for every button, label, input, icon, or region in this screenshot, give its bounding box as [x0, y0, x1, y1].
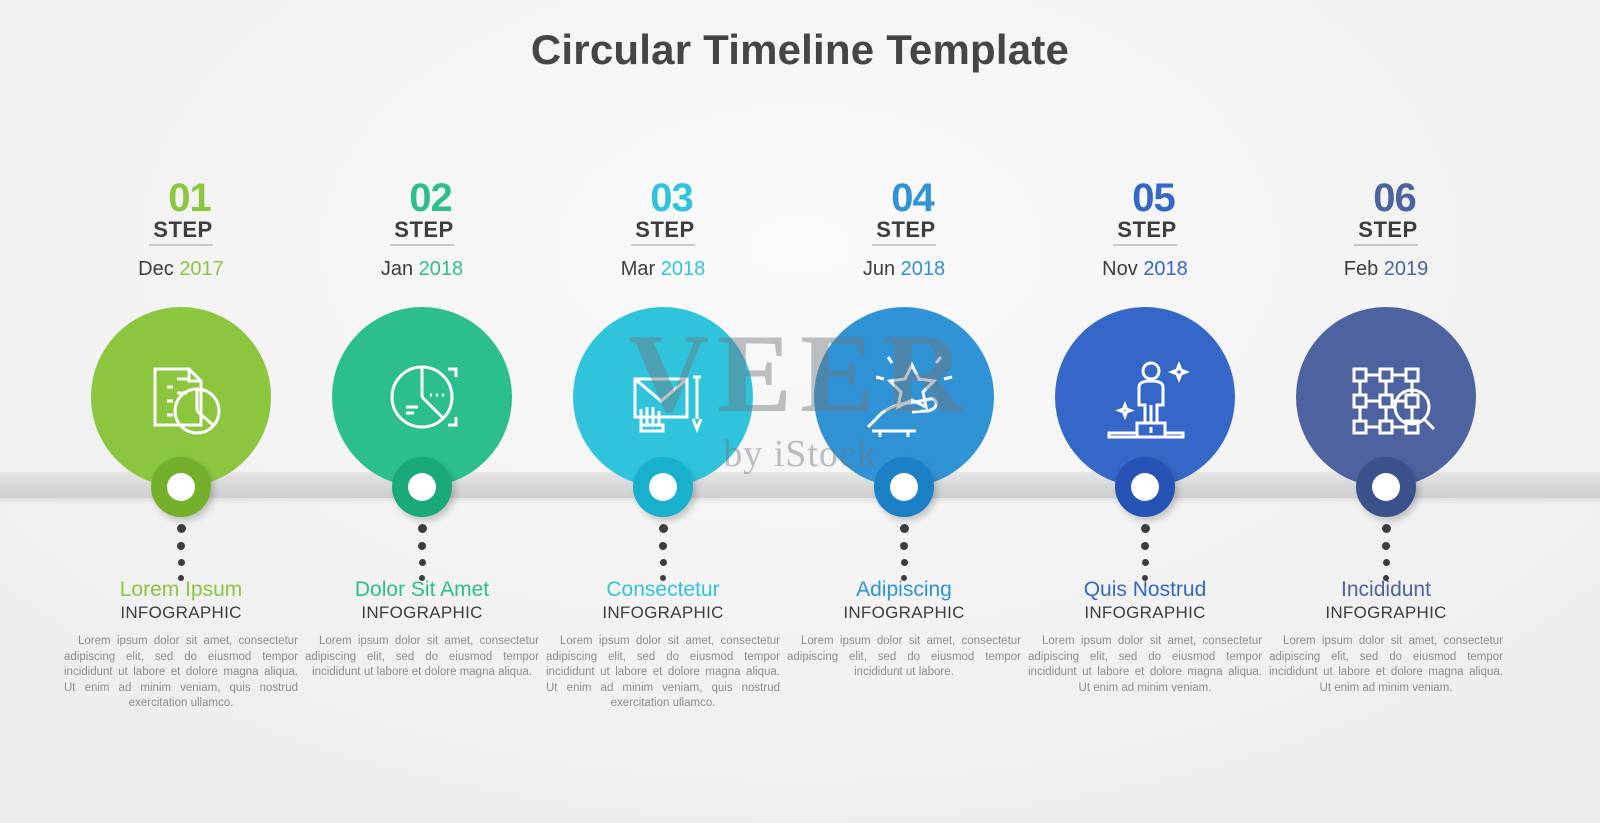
step-dots-3	[543, 524, 783, 581]
step-header-2: 02 STEP Jan 2018	[302, 178, 542, 280]
step-word-6: STEP	[1354, 218, 1417, 242]
step-column-6[interactable]: 06 STEP Feb 2019	[1266, 0, 1506, 823]
step-word-1: STEP	[149, 218, 212, 242]
step-dots-1	[61, 524, 301, 581]
step-date-2: Jan 2018	[302, 258, 542, 280]
step-header-6: 06 STEP Feb 2019	[1266, 178, 1506, 280]
hand-star-icon	[854, 349, 954, 445]
step-date-1: Dec 2017	[61, 258, 301, 280]
step-word-4: STEP	[872, 218, 935, 242]
step-ring-3[interactable]	[633, 457, 693, 517]
step-ring-inner-2	[408, 473, 436, 501]
step-rule-3	[631, 244, 694, 246]
step-rule-4	[872, 244, 935, 246]
step-column-4[interactable]: 04 STEP Jun 2018	[784, 0, 1024, 823]
step-year-6: 2019	[1384, 258, 1429, 280]
step-number-3: 03	[631, 178, 694, 218]
step-body-5: Quis Nostrud INFOGRAPHIC Lorem ipsum dol…	[1025, 578, 1265, 696]
step-text-2: Lorem ipsum dolor sit amet, consectetur …	[302, 634, 542, 681]
step-dots-2	[302, 524, 542, 581]
step-ring-2[interactable]	[392, 457, 452, 517]
step-subtitle-3: INFOGRAPHIC	[543, 603, 783, 623]
step-dots-6	[1266, 524, 1506, 581]
step-ring-inner-6	[1372, 473, 1400, 501]
document-pie-chart-icon	[133, 349, 229, 445]
envelope-pencil-icon	[613, 349, 713, 445]
step-text-5: Lorem ipsum dolor sit amet, consectetur …	[1025, 634, 1265, 696]
step-month-1: Dec	[138, 258, 174, 280]
step-ring-inner-3	[649, 473, 677, 501]
step-body-2: Dolor Sit Amet INFOGRAPHIC Lorem ipsum d…	[302, 578, 542, 681]
step-title-4: Adipiscing	[784, 578, 1024, 602]
step-header-5: 05 STEP Nov 2018	[1025, 178, 1265, 280]
step-ring-1[interactable]	[151, 457, 211, 517]
step-title-1: Lorem Ipsum	[61, 578, 301, 602]
step-rule-6	[1354, 244, 1417, 246]
step-text-6: Lorem ipsum dolor sit amet, consectetur …	[1266, 634, 1506, 696]
step-month-5: Nov	[1102, 258, 1138, 280]
step-text-4: Lorem ipsum dolor sit amet, consectetur …	[784, 634, 1024, 681]
step-month-4: Jun	[863, 258, 895, 280]
step-number-6: 06	[1354, 178, 1417, 218]
step-column-3[interactable]: 03 STEP Mar 2018	[543, 0, 783, 823]
step-word-3: STEP	[631, 218, 694, 242]
step-text-3: Lorem ipsum dolor sit amet, consectetur …	[543, 634, 783, 712]
step-year-2: 2018	[419, 258, 464, 280]
step-number-5: 05	[1113, 178, 1176, 218]
step-word-2: STEP	[390, 218, 453, 242]
step-header-3: 03 STEP Mar 2018	[543, 178, 783, 280]
step-number-1: 01	[149, 178, 212, 218]
step-dots-4	[784, 524, 1024, 581]
step-number-2: 02	[390, 178, 453, 218]
step-body-6: Incididunt INFOGRAPHIC Lorem ipsum dolor…	[1266, 578, 1506, 696]
step-column-2[interactable]: 02 STEP Jan 2018	[302, 0, 542, 823]
step-body-4: Adipiscing INFOGRAPHIC Lorem ipsum dolor…	[784, 578, 1024, 681]
step-subtitle-2: INFOGRAPHIC	[302, 603, 542, 623]
step-rule-2	[390, 244, 453, 246]
step-ring-4[interactable]	[874, 457, 934, 517]
pie-chart-icon	[374, 349, 470, 445]
step-title-3: Consectetur	[543, 578, 783, 602]
step-subtitle-4: INFOGRAPHIC	[784, 603, 1024, 623]
step-title-2: Dolor Sit Amet	[302, 578, 542, 602]
step-subtitle-6: INFOGRAPHIC	[1266, 603, 1506, 623]
step-year-1: 2017	[179, 258, 224, 280]
step-rule-1	[149, 244, 212, 246]
step-subtitle-5: INFOGRAPHIC	[1025, 603, 1265, 623]
step-column-5[interactable]: 05 STEP Nov 2018	[1025, 0, 1265, 823]
step-title-5: Quis Nostrud	[1025, 578, 1265, 602]
step-text-1: Lorem ipsum dolor sit amet, consectetur …	[61, 634, 301, 712]
person-podium-icon	[1095, 349, 1195, 445]
step-number-4: 04	[872, 178, 935, 218]
step-date-5: Nov 2018	[1025, 258, 1265, 280]
step-month-3: Mar	[621, 258, 655, 280]
step-subtitle-1: INFOGRAPHIC	[61, 603, 301, 623]
step-ring-inner-4	[890, 473, 918, 501]
step-ring-inner-5	[1131, 473, 1159, 501]
step-year-5: 2018	[1143, 258, 1188, 280]
step-header-1: 01 STEP Dec 2017	[61, 178, 301, 280]
step-date-4: Jun 2018	[784, 258, 1024, 280]
step-body-1: Lorem Ipsum INFOGRAPHIC Lorem ipsum dolo…	[61, 578, 301, 712]
step-month-2: Jan	[381, 258, 413, 280]
step-body-3: Consectetur INFOGRAPHIC Lorem ipsum dolo…	[543, 578, 783, 712]
step-date-6: Feb 2019	[1266, 258, 1506, 280]
step-ring-5[interactable]	[1115, 457, 1175, 517]
step-dots-5	[1025, 524, 1265, 581]
step-month-6: Feb	[1344, 258, 1378, 280]
step-title-6: Incididunt	[1266, 578, 1506, 602]
step-year-4: 2018	[901, 258, 946, 280]
infographic-canvas: Circular Timeline Template 01 STEP Dec 2…	[0, 0, 1600, 823]
network-search-icon	[1336, 349, 1436, 445]
step-date-3: Mar 2018	[543, 258, 783, 280]
step-word-5: STEP	[1113, 218, 1176, 242]
step-column-1[interactable]: 01 STEP Dec 2017	[61, 0, 301, 823]
step-ring-6[interactable]	[1356, 457, 1416, 517]
step-year-3: 2018	[661, 258, 706, 280]
step-rule-5	[1113, 244, 1176, 246]
step-header-4: 04 STEP Jun 2018	[784, 178, 1024, 280]
step-ring-inner-1	[167, 473, 195, 501]
